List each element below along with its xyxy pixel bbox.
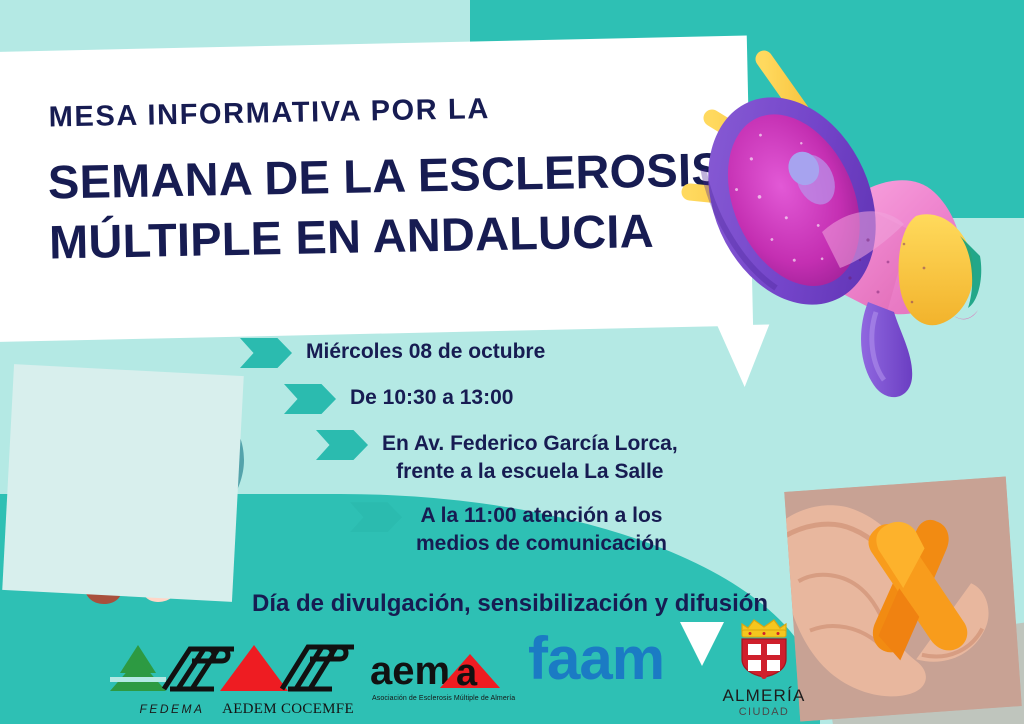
list-item-label: Miércoles 08 de octubre: [306, 336, 545, 366]
logo-almeria-subtitle: CIUDAD: [712, 706, 816, 718]
poster-canvas: MESA INFORMATIVA POR LA SEMANA DE LA ESC…: [0, 0, 1024, 724]
list-item-label: En Av. Federico García Lorca, frente a l…: [382, 428, 678, 486]
poster-tagline: Día de divulgación, sensibilización y di…: [252, 590, 768, 618]
logo-aedem-cocemfe: AEDEM COCEMFE: [214, 641, 362, 718]
aema-mark-icon: aem a: [370, 652, 518, 692]
list-item-line: medios de comunicación: [416, 530, 667, 558]
list-item: De 10:30 a 13:00: [284, 382, 760, 414]
chevron-right-icon: [240, 338, 292, 368]
list-item-label: De 10:30 a 13:00: [350, 382, 513, 412]
almeria-coat-of-arms-icon: [712, 615, 816, 679]
svg-text:aem: aem: [370, 652, 450, 692]
list-item: A la 11:00 atención a los medios de comu…: [350, 500, 760, 558]
faam-wordmark-icon: faam: [528, 633, 688, 689]
aedem-mark-icon: [214, 641, 362, 695]
list-item-line: A la 11:00 atención a los: [416, 502, 667, 530]
list-item-line: frente a la escuela La Salle: [382, 458, 678, 486]
chevron-right-icon: [350, 502, 402, 532]
list-item-line: En Av. Federico García Lorca,: [382, 430, 678, 458]
logo-almeria-ciudad: ALMERÍA CIUDAD: [712, 615, 816, 718]
speech-bubble-tail-small: [680, 622, 724, 666]
logo-aedem-label: AEDEM COCEMFE: [214, 701, 362, 718]
logo-aema-subtitle: Asociación de Esclerosis Múltiple de Alm…: [370, 695, 518, 702]
hands-illustration-backdrop: [2, 364, 244, 602]
hands-heart-illustration: [6, 362, 264, 612]
svg-text:faam: faam: [528, 633, 664, 689]
chevron-right-icon: [316, 430, 368, 460]
logo-row: FEDEMA AEDEM COCEMFE aem a Asoc: [0, 616, 1024, 724]
list-item-label: A la 11:00 atención a los medios de comu…: [416, 500, 667, 558]
details-list: Miércoles 08 de octubre De 10:30 a 13:00…: [240, 336, 760, 573]
svg-text:a: a: [456, 652, 478, 692]
list-item: En Av. Federico García Lorca, frente a l…: [316, 428, 760, 486]
heading-block: MESA INFORMATIVA POR LA SEMANA DE LA ESC…: [46, 89, 729, 272]
logo-aema: aem a Asociación de Esclerosis Múltiple …: [370, 652, 518, 702]
chevron-right-icon: [284, 384, 336, 414]
logo-almeria-label: ALMERÍA: [712, 686, 816, 706]
page-title: SEMANA DE LA ESCLEROSIS MÚLTIPLE EN ANDA…: [47, 139, 729, 272]
list-item: Miércoles 08 de octubre: [240, 336, 760, 368]
logo-faam: faam: [528, 633, 688, 694]
